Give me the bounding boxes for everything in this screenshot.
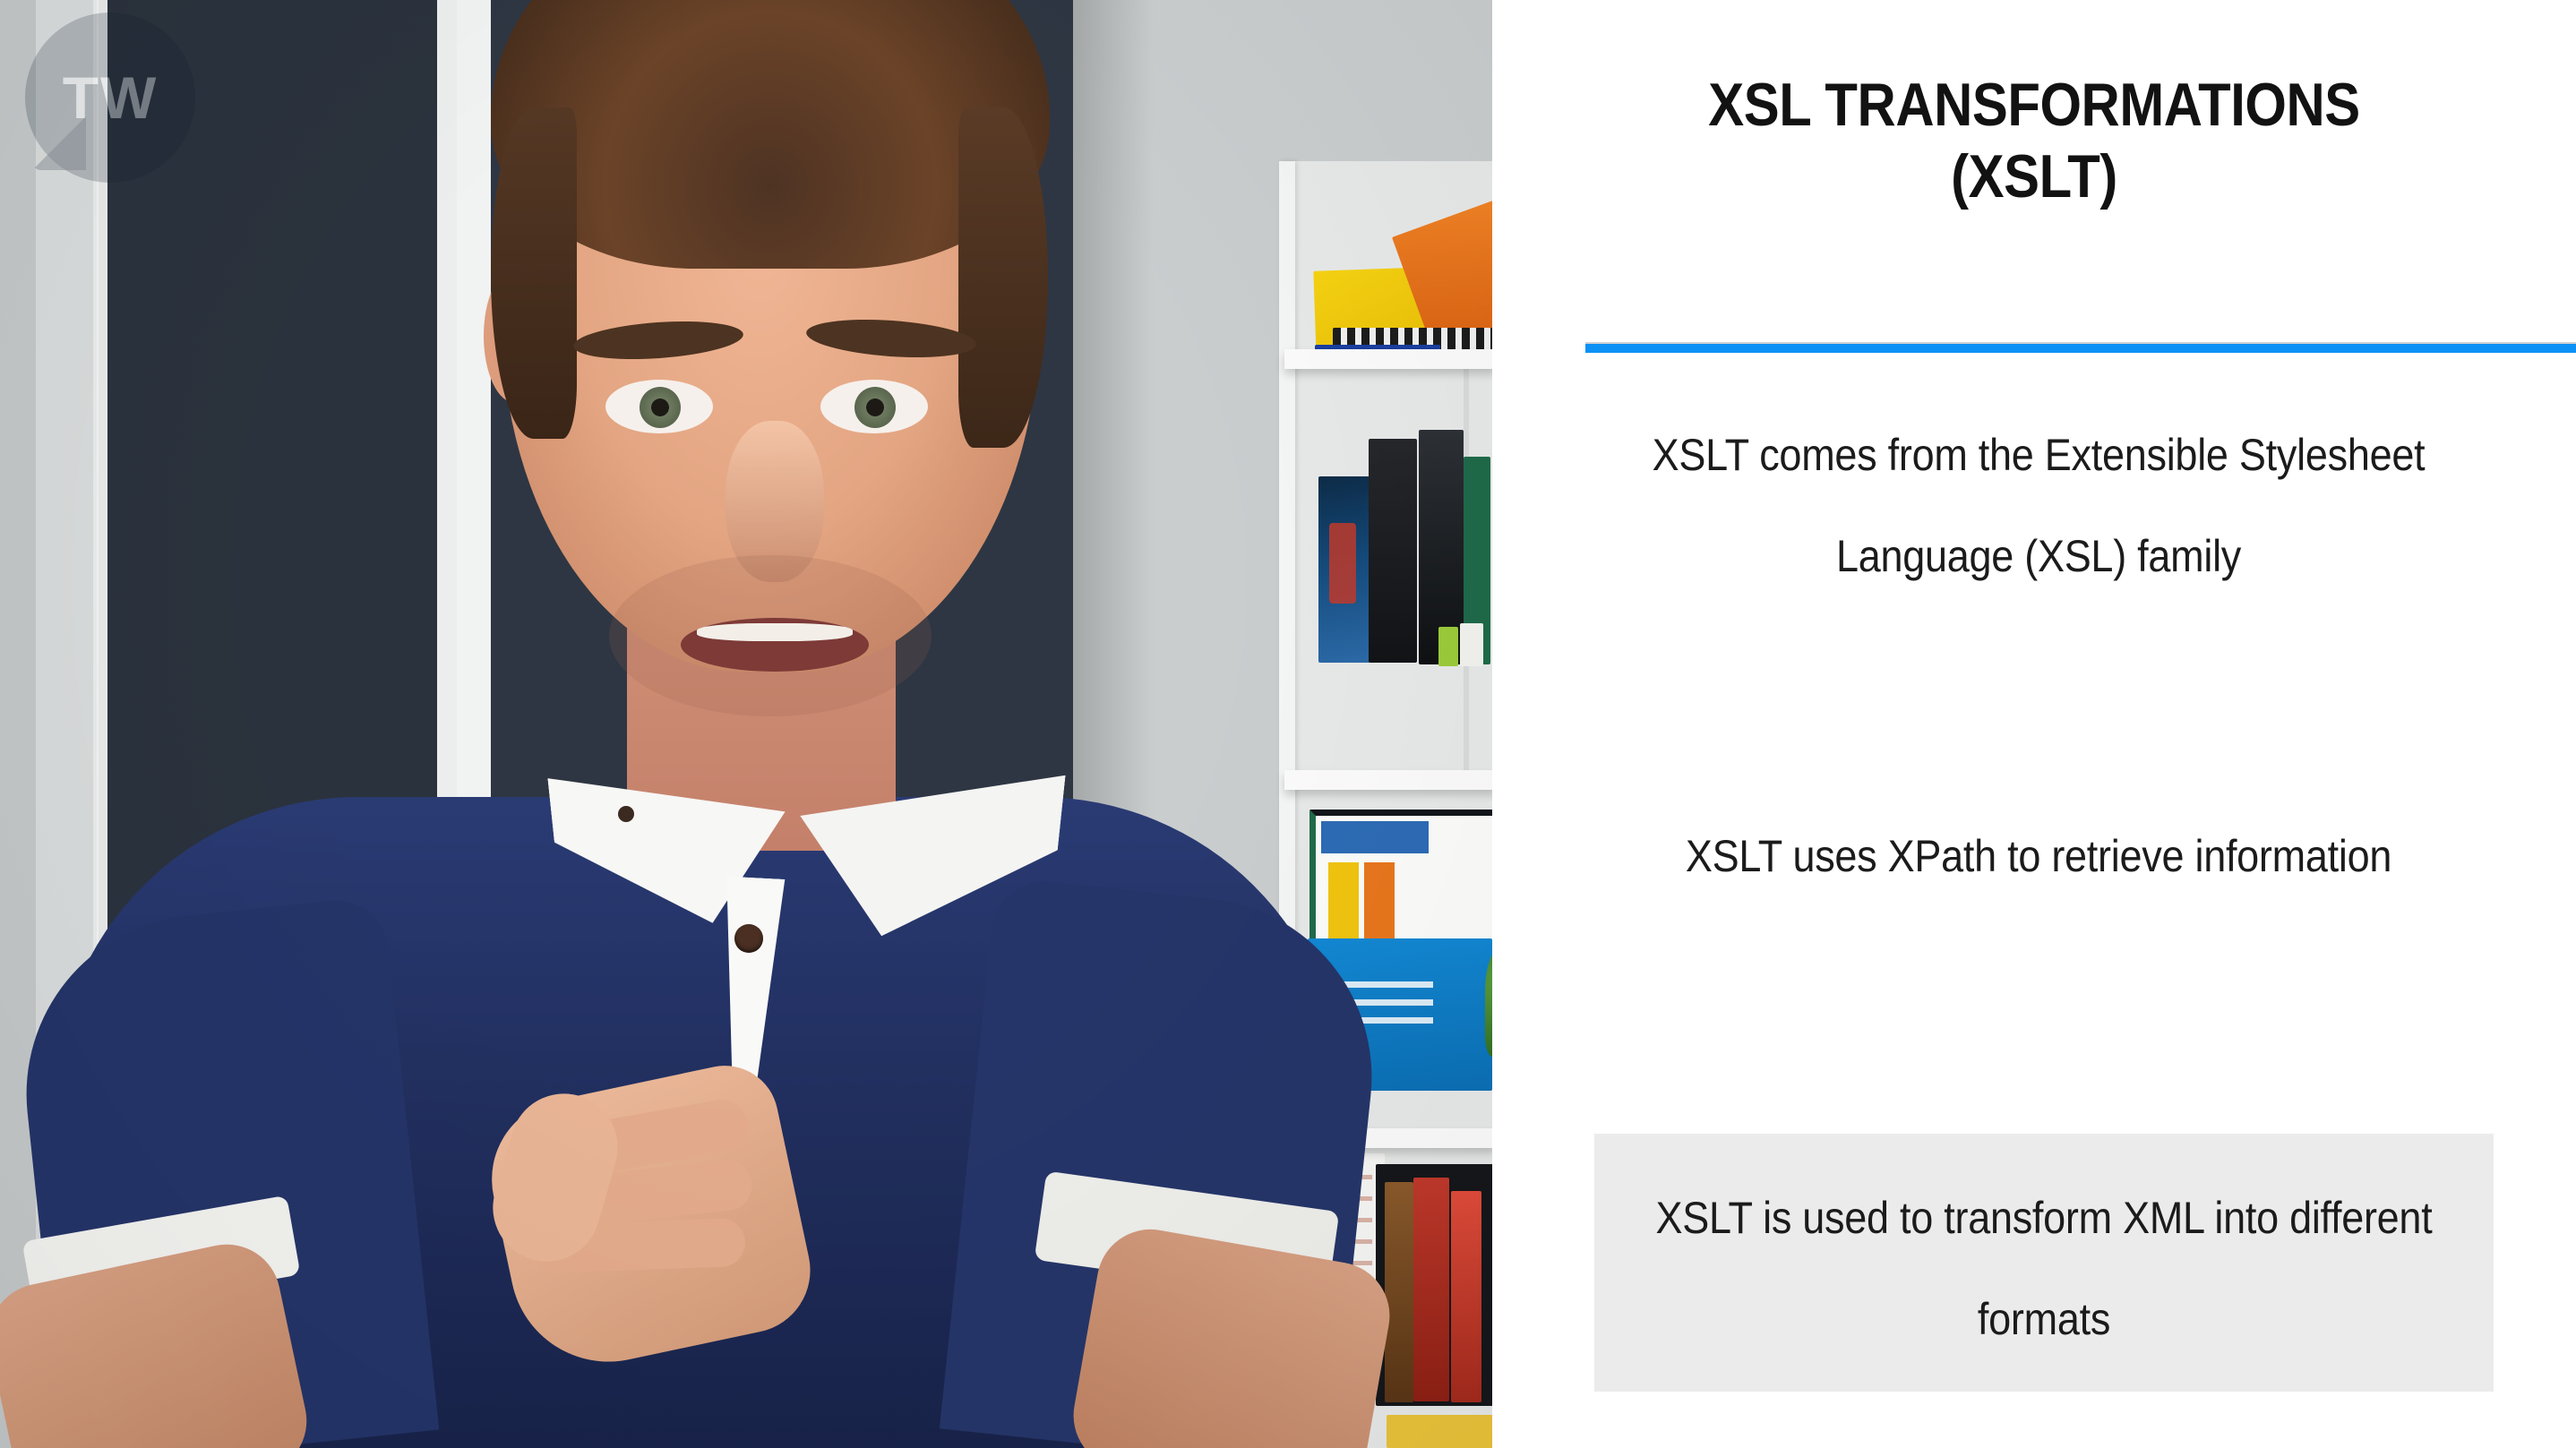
slide-bullet-1: XSLT comes from the Extensible Styleshee… <box>1579 405 2498 606</box>
presenter-iris-right <box>854 387 896 428</box>
slide-pane: XSL TRANSFORMATIONS (XSLT) XSLT comes fr… <box>1492 0 2576 1448</box>
slide-title-line-1: XSL TRANSFORMATIONS <box>1581 70 2487 141</box>
polo-button <box>734 924 763 953</box>
presenter <box>0 0 1492 1448</box>
presenter-eye-right <box>820 380 928 433</box>
slide-bullet-2: XSLT uses XPath to retrieve information <box>1579 806 2498 907</box>
polo-collar-button <box>618 806 634 822</box>
slide-title: XSL TRANSFORMATIONS (XSLT) <box>1581 70 2487 212</box>
slide-title-line-2: (XSLT) <box>1581 141 2487 213</box>
slide-callout-text: XSLT is used to transform XML into diffe… <box>1639 1168 2449 1369</box>
presenter-video-pane[interactable]: TW <box>0 0 1492 1448</box>
title-divider <box>1585 344 2576 353</box>
slide-video-composite: TW XSL TRANSFORMATIONS (XSLT) XSLT comes… <box>0 0 2576 1448</box>
presenter-mouth <box>681 618 869 672</box>
presenter-iris-left <box>640 387 681 428</box>
presenter-hair-right <box>958 107 1048 448</box>
presenter-eye-left <box>605 380 713 433</box>
watermark-label: TW <box>25 13 195 183</box>
presenter-hair-left <box>491 107 577 439</box>
tw-watermark: TW <box>25 13 195 183</box>
